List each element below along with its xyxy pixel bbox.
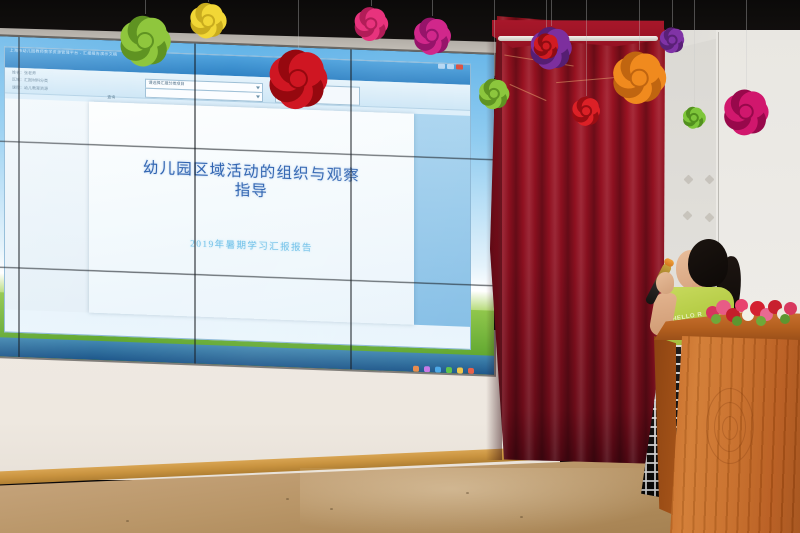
form-label-name: 姓名：张老师 bbox=[12, 69, 36, 76]
podium-front bbox=[666, 336, 800, 533]
decoration-thread bbox=[145, 0, 146, 14]
flower-center bbox=[203, 16, 213, 26]
floor-speck bbox=[330, 508, 333, 510]
chevron-down-icon[interactable] bbox=[256, 95, 260, 98]
video-wall-display[interactable]: 上海市幼儿园教师教学资源管理平台 - 汇报报告演示文稿 姓名：张老师 区域：汇报… bbox=[0, 36, 494, 375]
bouquet-bloom bbox=[756, 316, 766, 326]
category-dropdown-value: 请选择汇报分类项目 bbox=[149, 80, 185, 87]
tray-icon[interactable] bbox=[435, 366, 441, 372]
query-button[interactable]: 查询 bbox=[107, 94, 115, 100]
floor-speck bbox=[466, 492, 469, 494]
curtain-rod bbox=[498, 36, 658, 41]
decoration-thread bbox=[694, 0, 695, 106]
presentation-slide[interactable]: 幼儿园区域活动的组织与观察 指导 2019年暑期学习汇报报告 bbox=[89, 101, 415, 324]
red-curtain-ball-1 bbox=[533, 33, 559, 59]
decoration-thread bbox=[494, 0, 495, 78]
right-task-pane[interactable] bbox=[414, 114, 470, 327]
tray-icon[interactable] bbox=[413, 366, 419, 372]
pink-flower-ball bbox=[353, 6, 389, 42]
video-wall-bezel bbox=[194, 44, 196, 364]
decoration-thread bbox=[551, 0, 552, 26]
bouquet-bloom bbox=[732, 316, 742, 326]
slide-title: 幼儿园区域活动的组织与观察 指导 bbox=[102, 157, 401, 208]
bouquet-bloom bbox=[711, 314, 721, 324]
floor-reflection bbox=[300, 468, 680, 533]
decoration-thread bbox=[639, 0, 640, 50]
yellow-flower-ball bbox=[189, 2, 227, 40]
green-edge-ball bbox=[478, 78, 510, 110]
flower-center bbox=[543, 43, 550, 50]
green-small-ball bbox=[682, 106, 706, 130]
bouquet-bloom bbox=[784, 302, 797, 315]
decoration-thread bbox=[672, 0, 673, 27]
flower-center bbox=[582, 107, 590, 115]
speaker-hand bbox=[656, 272, 674, 294]
tray-icon[interactable] bbox=[457, 367, 463, 373]
bouquet-bloom bbox=[780, 314, 790, 324]
tray-icon[interactable] bbox=[446, 367, 452, 373]
tray-icon[interactable] bbox=[424, 366, 430, 372]
flower-center bbox=[669, 37, 676, 44]
decoration-thread bbox=[298, 0, 299, 48]
slide-subtitle: 2019年暑期学习汇报报告 bbox=[102, 233, 401, 258]
orange-flower-ball bbox=[611, 50, 667, 106]
green-flower-ball bbox=[118, 14, 172, 68]
magenta-flower-ball bbox=[412, 16, 452, 56]
red-flower-ball bbox=[267, 48, 329, 110]
floor-speck bbox=[126, 520, 129, 522]
speaker-hair bbox=[688, 239, 728, 287]
close-icon[interactable] bbox=[456, 64, 463, 69]
wood-grain bbox=[722, 416, 738, 440]
magenta-large-ball bbox=[722, 88, 770, 136]
purple-small-ball bbox=[659, 27, 685, 53]
flower-center bbox=[138, 34, 152, 48]
tray-icon[interactable] bbox=[468, 368, 474, 374]
decoration-thread bbox=[586, 0, 587, 96]
floor-speck bbox=[520, 516, 523, 518]
maximize-icon[interactable] bbox=[447, 64, 454, 69]
photo-scene: 上海市幼儿园教师教学资源管理平台 - 汇报报告演示文稿 姓名：张老师 区域：汇报… bbox=[0, 0, 800, 533]
decoration-thread bbox=[432, 0, 433, 16]
window-controls[interactable] bbox=[438, 64, 463, 70]
red-curtain-ball-2 bbox=[571, 96, 601, 126]
application-window[interactable]: 上海市幼儿园教师教学资源管理平台 - 汇报报告演示文稿 姓名：张老师 区域：汇报… bbox=[4, 46, 471, 350]
minimize-icon[interactable] bbox=[438, 64, 445, 69]
window-title-text: 上海市幼儿园教师教学资源管理平台 - 汇报报告演示文稿 bbox=[10, 47, 118, 57]
chevron-down-icon[interactable] bbox=[256, 86, 260, 89]
video-wall-bezel bbox=[18, 37, 20, 357]
flower-center bbox=[632, 71, 647, 86]
flower-arrangement bbox=[704, 296, 800, 330]
floor-speck bbox=[286, 498, 289, 500]
decoration-thread bbox=[746, 0, 747, 88]
video-wall-bezel bbox=[350, 49, 352, 369]
